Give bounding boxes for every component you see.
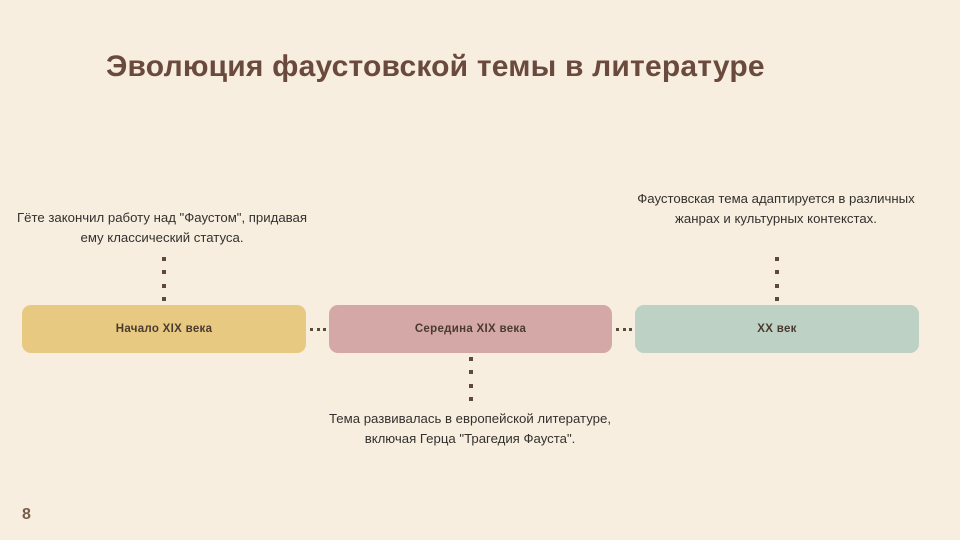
slide-canvas: Эволюция фаустовской темы в литературе Г… xyxy=(0,0,960,540)
timeline-caption-2: Фаустовская тема адаптируется в различны… xyxy=(626,189,926,229)
timeline-caption-1: Тема развивалась в европейской литератур… xyxy=(318,409,622,449)
timeline-stage-mid-19th-century[interactable]: Середина XIX века xyxy=(329,305,612,353)
connector-dot xyxy=(162,270,166,274)
connector-dot xyxy=(469,397,473,401)
connector-dot xyxy=(162,297,166,301)
connector-dot xyxy=(775,257,779,261)
timeline-stage-early-19th-century[interactable]: Начало XIX века xyxy=(22,305,306,353)
connector-dot xyxy=(469,384,473,388)
connector-dot xyxy=(469,370,473,374)
timeline-stage-20th-century[interactable]: XX век xyxy=(635,305,919,353)
page-number: 8 xyxy=(22,506,31,524)
page-title: Эволюция фаустовской темы в литературе xyxy=(106,48,866,86)
vertical-dotted-connector-1 xyxy=(469,357,473,401)
connector-dot xyxy=(162,284,166,288)
connector-dot xyxy=(469,357,473,361)
vertical-dotted-connector-0 xyxy=(162,257,166,301)
timeline-stage-label: Середина XIX века xyxy=(415,323,526,335)
timeline-stage-label: Начало XIX века xyxy=(116,323,213,335)
vertical-dotted-connector-2 xyxy=(775,257,779,301)
timeline-caption-0: Гёте закончил работу над "Фаустом", прид… xyxy=(12,208,312,248)
timeline-track: Начало XIX века Середина XIX века XX век xyxy=(0,305,960,353)
connector-dot xyxy=(775,270,779,274)
timeline-stage-label: XX век xyxy=(757,323,796,335)
connector-dot xyxy=(775,297,779,301)
connector-dot xyxy=(162,257,166,261)
connector-dot xyxy=(775,284,779,288)
